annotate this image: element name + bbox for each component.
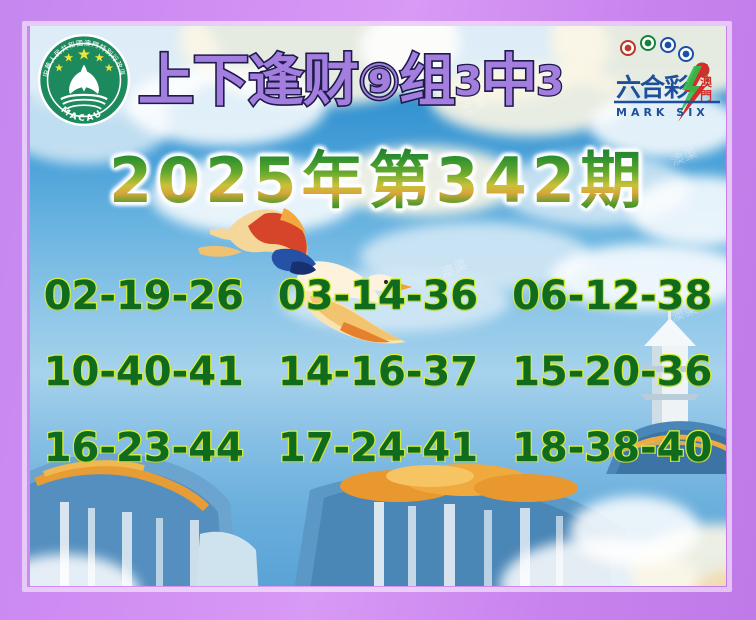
macau-emblem: 中華人民共和國澳門特別行政區 (36, 32, 132, 128)
picks-row: 02-19-26 03-14-36 06-12-38 (30, 258, 726, 334)
headline: 上下逢财 ⑨ 组 3 中 3 (138, 46, 658, 118)
pick-group: 17-24-41 (278, 425, 478, 471)
mark-six-logo: 六合彩 澳 門 MARK SIX (614, 34, 722, 126)
headline-part3: 中 (481, 52, 536, 112)
headline-digit-a: 3 (454, 52, 481, 112)
pick-group: 03-14-36 (278, 273, 478, 319)
cloud-shape (690, 568, 726, 586)
headline-part1: 上下逢财 (138, 52, 358, 112)
pick-group: 16-23-44 (44, 425, 244, 471)
issue-title-row: 2025年第342期 (30, 144, 726, 218)
picks-row: 16-23-44 17-24-41 18-38-40 (30, 410, 726, 486)
mark-six-latin: MARK SIX (616, 106, 709, 119)
picks-table: 02-19-26 03-14-36 06-12-38 10-40-41 14-1… (30, 258, 726, 486)
pick-group: 18-38-40 (512, 425, 712, 471)
mark-six-badge-char1: 澳 (700, 74, 713, 89)
issue-title: 2025年第342期 (109, 144, 647, 218)
picks-row: 10-40-41 14-16-37 15-20-36 (30, 334, 726, 410)
pick-group: 02-19-26 (44, 273, 244, 319)
pick-group: 14-16-37 (278, 349, 478, 395)
headline-digit-b: 3 (536, 52, 563, 112)
pick-group: 06-12-38 (512, 273, 712, 319)
pick-group: 10-40-41 (44, 349, 244, 395)
mark-six-chinese: 六合彩 (616, 73, 689, 102)
poster-root: 澳渠 澳渠 澳渠 澳渠 澳渠 澳渠 中華人民共和國澳門特別行政區 (0, 0, 756, 620)
headline-circled-digit: ⑨ (358, 52, 399, 112)
pick-group: 15-20-36 (512, 349, 712, 395)
headline-part2: 组 (399, 52, 454, 112)
poster-header: 中華人民共和國澳門特別行政區 (30, 26, 726, 138)
artwork-canvas: 澳渠 澳渠 澳渠 澳渠 澳渠 澳渠 中華人民共和國澳門特別行政區 (30, 26, 726, 586)
